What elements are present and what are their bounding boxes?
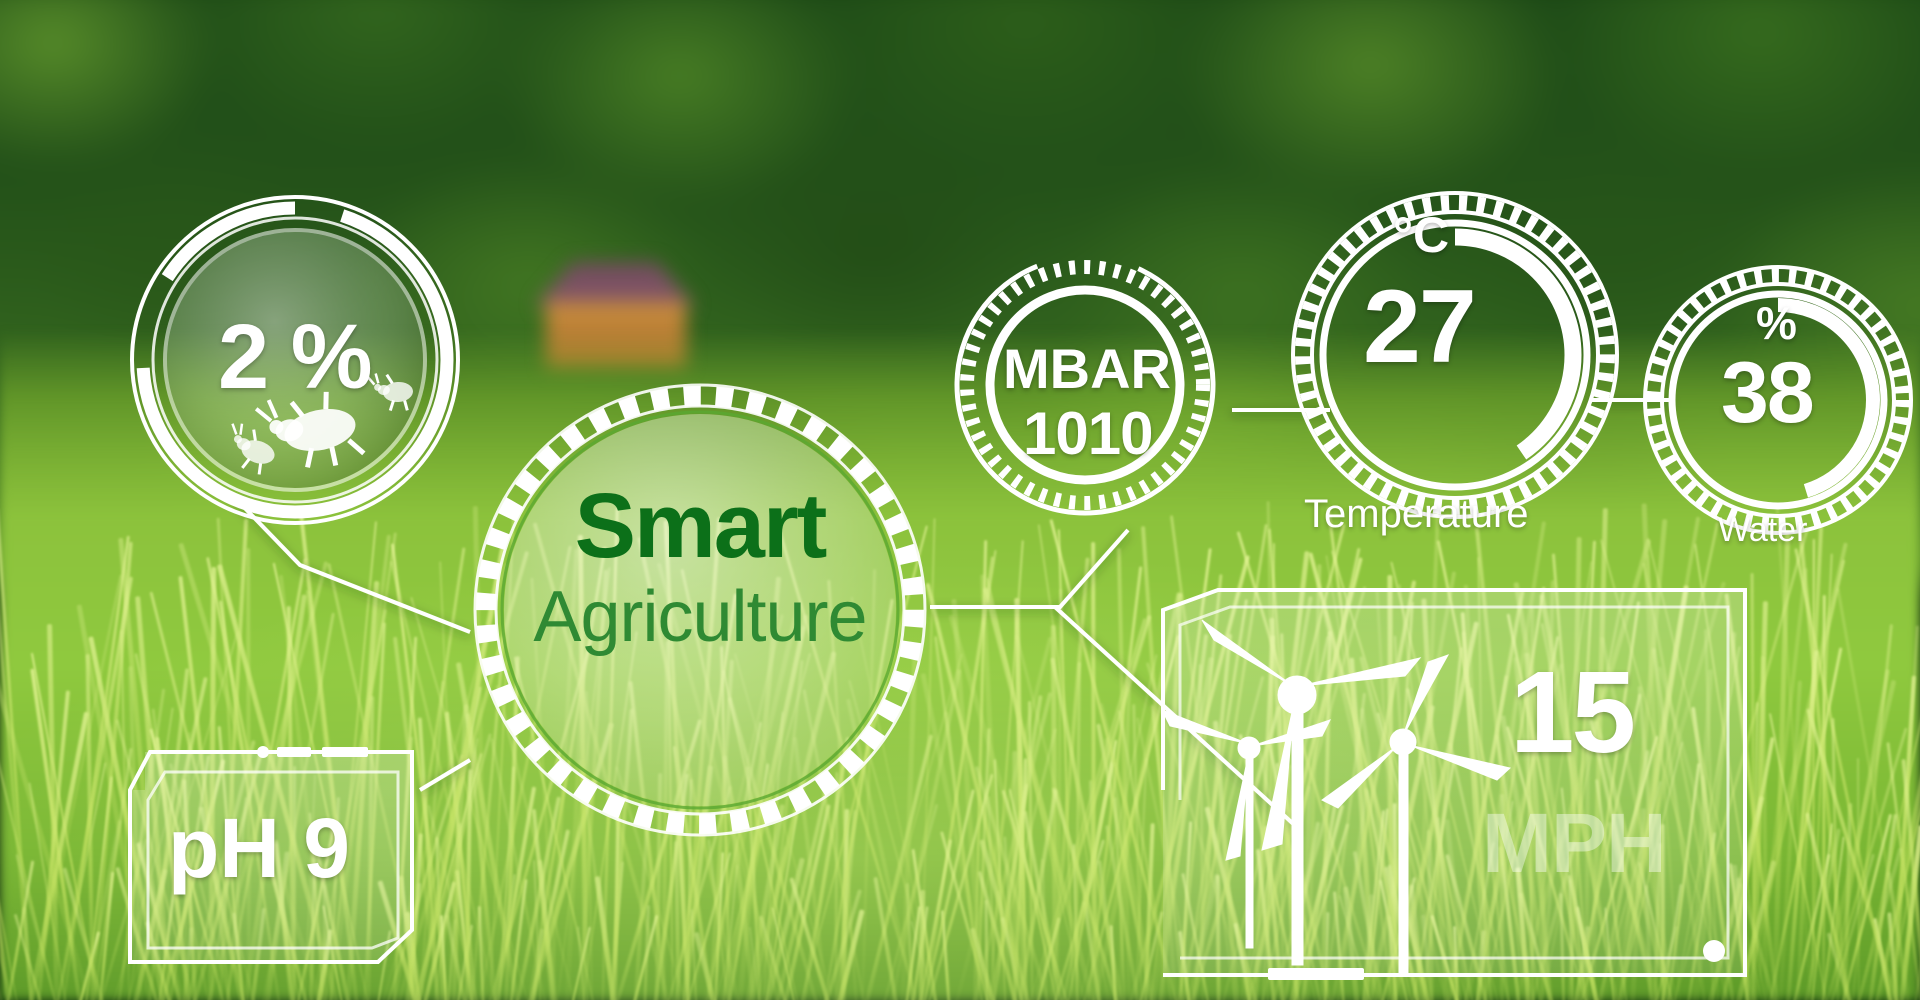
screenshot-stage: 2 % MBAR 1010 °C 27 Temperature % 38 Wat… [0, 0, 1920, 1000]
water-gauge-value: 38 [1721, 344, 1813, 443]
wind-panel-unit: MPH [1482, 795, 1666, 892]
pressure-gauge-unit: MBAR [1003, 336, 1171, 401]
connector-ph-to-core [420, 760, 470, 790]
pest-gauge-value: 2 % [218, 305, 371, 410]
connector-core-to-pressure [930, 530, 1128, 607]
ph-panel-value: pH 9 [168, 800, 350, 897]
brand-subtitle: Agriculture [470, 578, 930, 657]
brand-label-group: Smart Agriculture [470, 480, 930, 657]
temperature-gauge-caption: Temperature [1304, 492, 1529, 537]
pressure-gauge-value: 1010 [1023, 399, 1152, 468]
water-gauge-unit: % [1756, 296, 1797, 350]
water-gauge-caption: Water [1718, 511, 1807, 550]
wind-panel[interactable] [1162, 590, 1745, 980]
temperature-gauge-unit: °C [1393, 206, 1449, 264]
wind-panel-value: 15 [1510, 645, 1633, 779]
hud-overlay: 2 % MBAR 1010 °C 27 Temperature % 38 Wat… [0, 0, 1920, 1000]
temperature-gauge-value: 27 [1363, 268, 1475, 387]
brand-title: Smart [470, 480, 930, 572]
